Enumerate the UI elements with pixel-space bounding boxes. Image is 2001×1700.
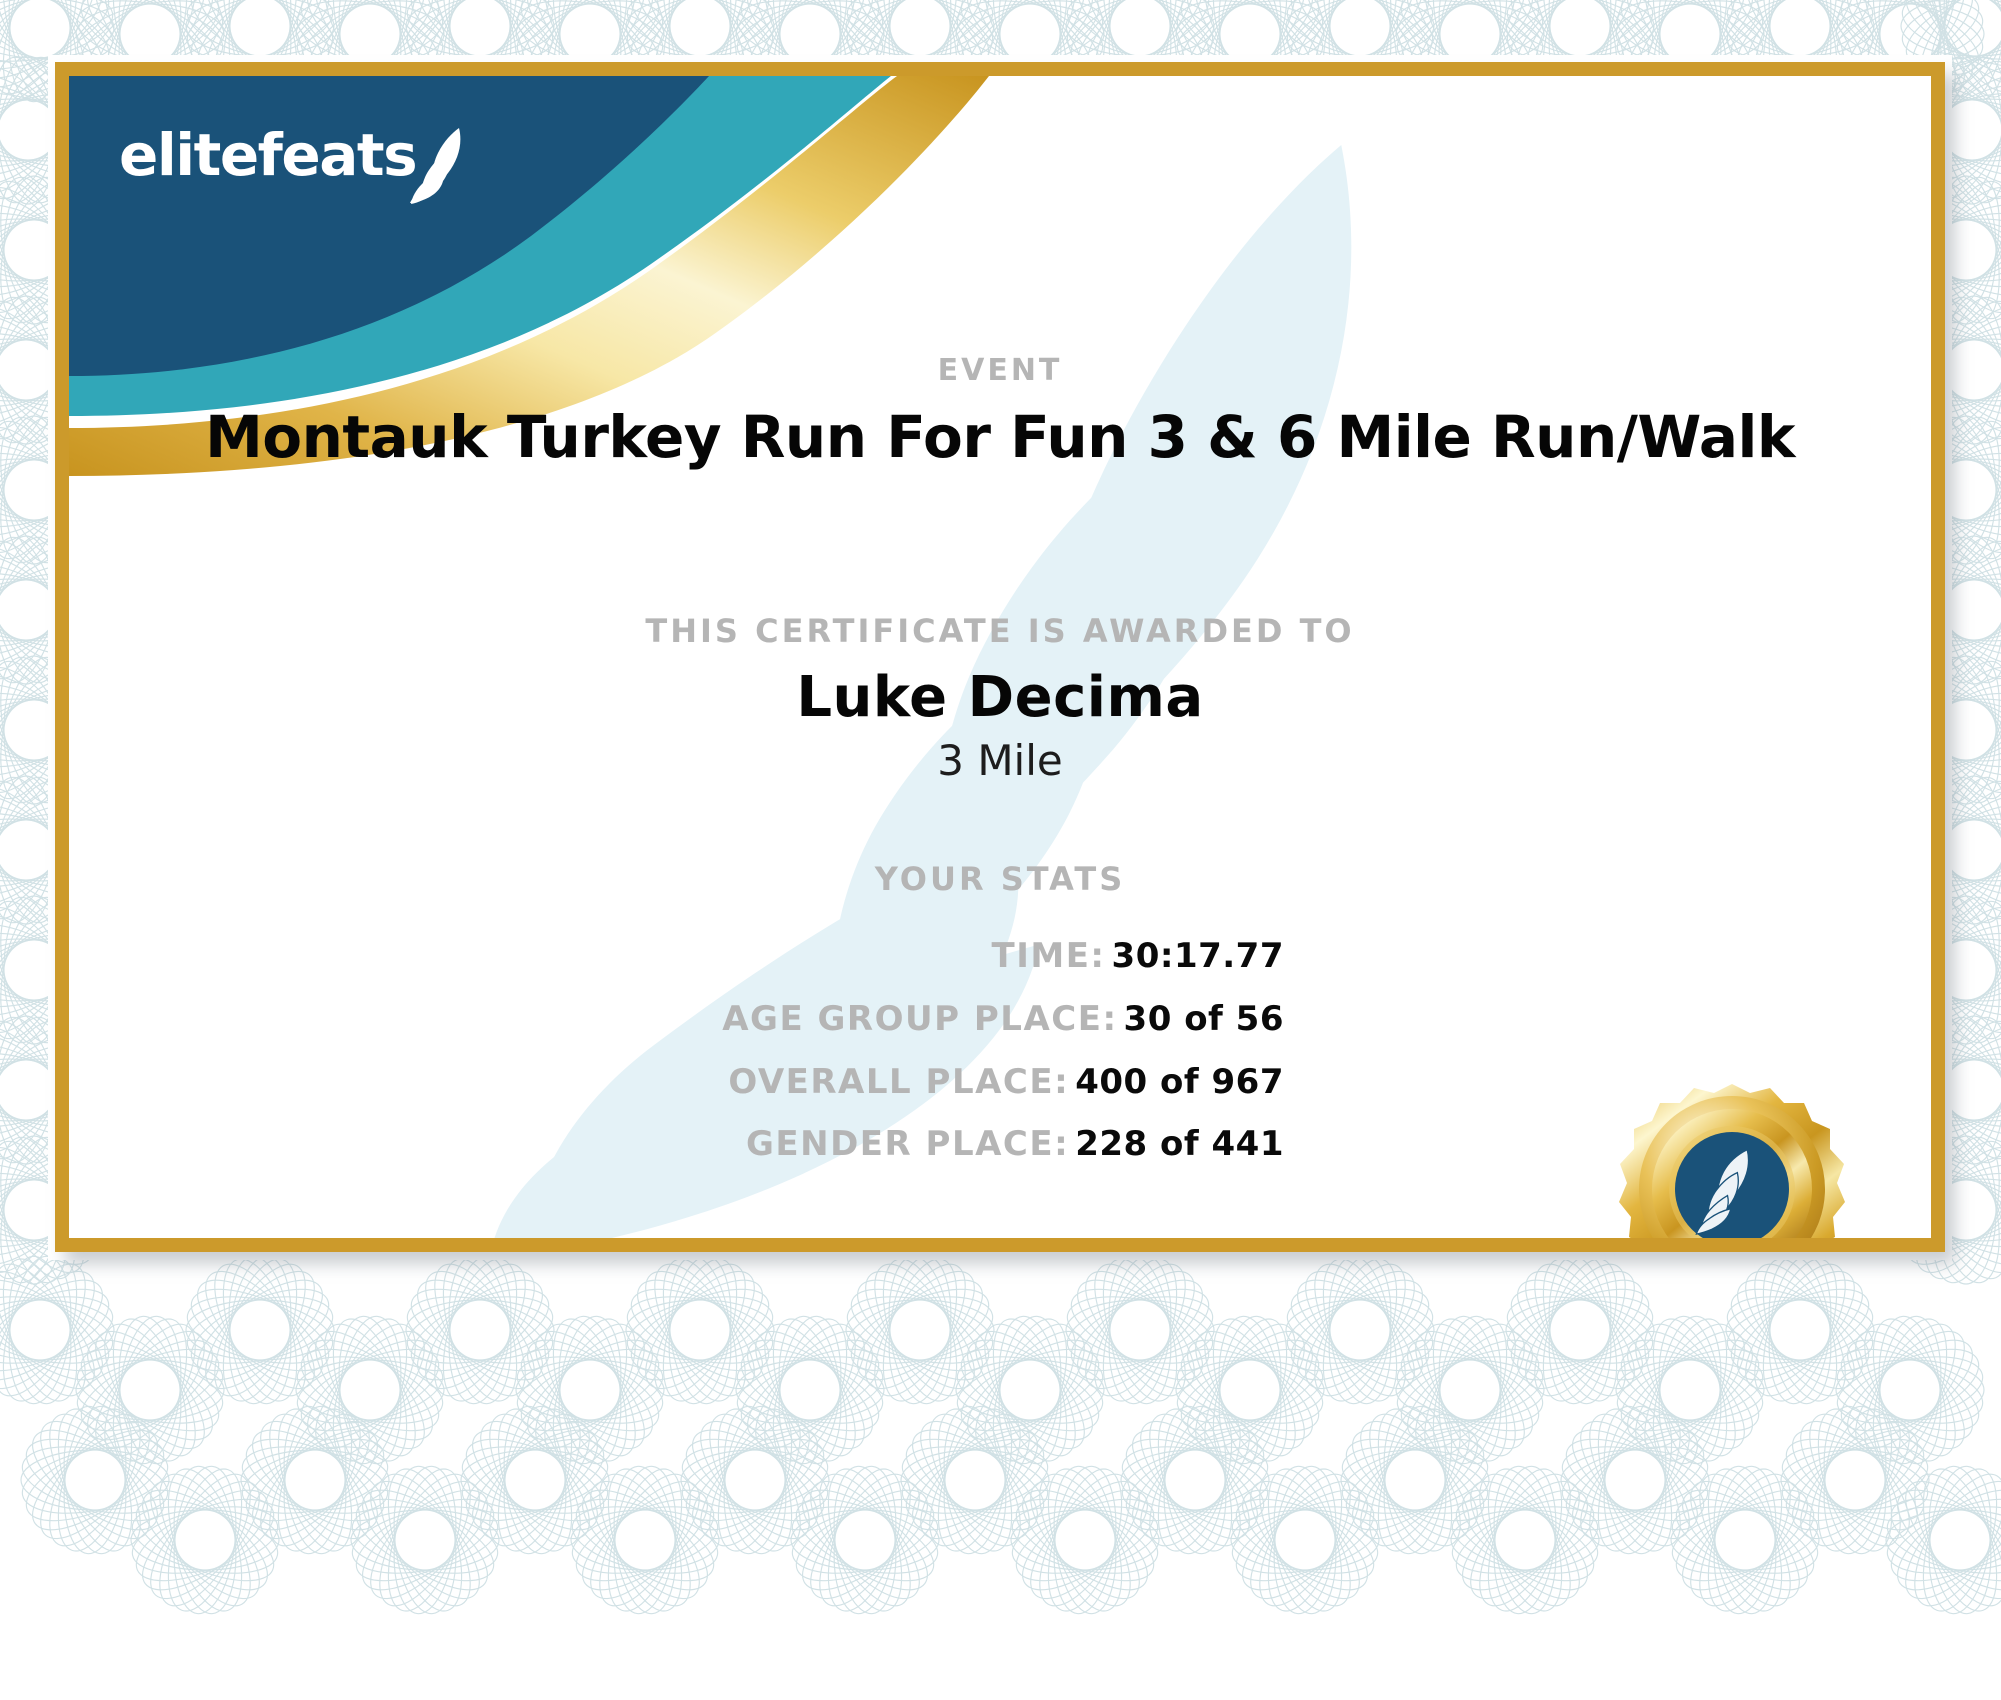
stat-value-overall-place: 400 of 967 bbox=[1075, 1062, 1284, 1102]
certificate-body: elitefeats EVENT Montauk Turkey Run For … bbox=[69, 76, 1931, 1238]
elitefeats-logo: elitefeats bbox=[119, 126, 478, 184]
stat-label-time: TIME: bbox=[992, 936, 1106, 976]
your-stats-label: YOUR STATS bbox=[69, 860, 1931, 898]
stat-row-age-group-place: AGE GROUP PLACE:30 of 56 bbox=[69, 999, 1284, 1040]
stat-label-age-group-place: AGE GROUP PLACE: bbox=[722, 999, 1117, 1039]
stat-row-overall-place: OVERALL PLACE:400 of 967 bbox=[69, 1062, 1284, 1103]
stat-value-gender-place: 228 of 441 bbox=[1075, 1124, 1284, 1164]
stat-value-age-group-place: 30 of 56 bbox=[1124, 999, 1284, 1039]
winged-foot-icon bbox=[410, 126, 478, 204]
brand-wordmark: elitefeats bbox=[119, 126, 416, 184]
awarded-to-label: THIS CERTIFICATE IS AWARDED TO bbox=[69, 612, 1931, 650]
recipient-name: Luke Decima bbox=[69, 665, 1931, 730]
stat-row-time: TIME:30:17.77 bbox=[69, 936, 1284, 977]
stat-label-overall-place: OVERALL PLACE: bbox=[728, 1062, 1069, 1102]
stat-row-gender-place: GENDER PLACE:228 of 441 bbox=[69, 1124, 1284, 1165]
stat-label-gender-place: GENDER PLACE: bbox=[746, 1124, 1069, 1164]
race-distance: 3 Mile bbox=[69, 736, 1931, 785]
certificate-frame: elitefeats EVENT Montauk Turkey Run For … bbox=[55, 62, 1945, 1252]
stats-list: TIME:30:17.77 AGE GROUP PLACE:30 of 56 O… bbox=[69, 936, 1284, 1187]
event-title: Montauk Turkey Run For Fun 3 & 6 Mile Ru… bbox=[69, 403, 1931, 471]
finisher-medal-badge: 2025 bbox=[1567, 1076, 1897, 1238]
stat-value-time: 30:17.77 bbox=[1112, 936, 1284, 976]
event-label: EVENT bbox=[69, 353, 1931, 388]
